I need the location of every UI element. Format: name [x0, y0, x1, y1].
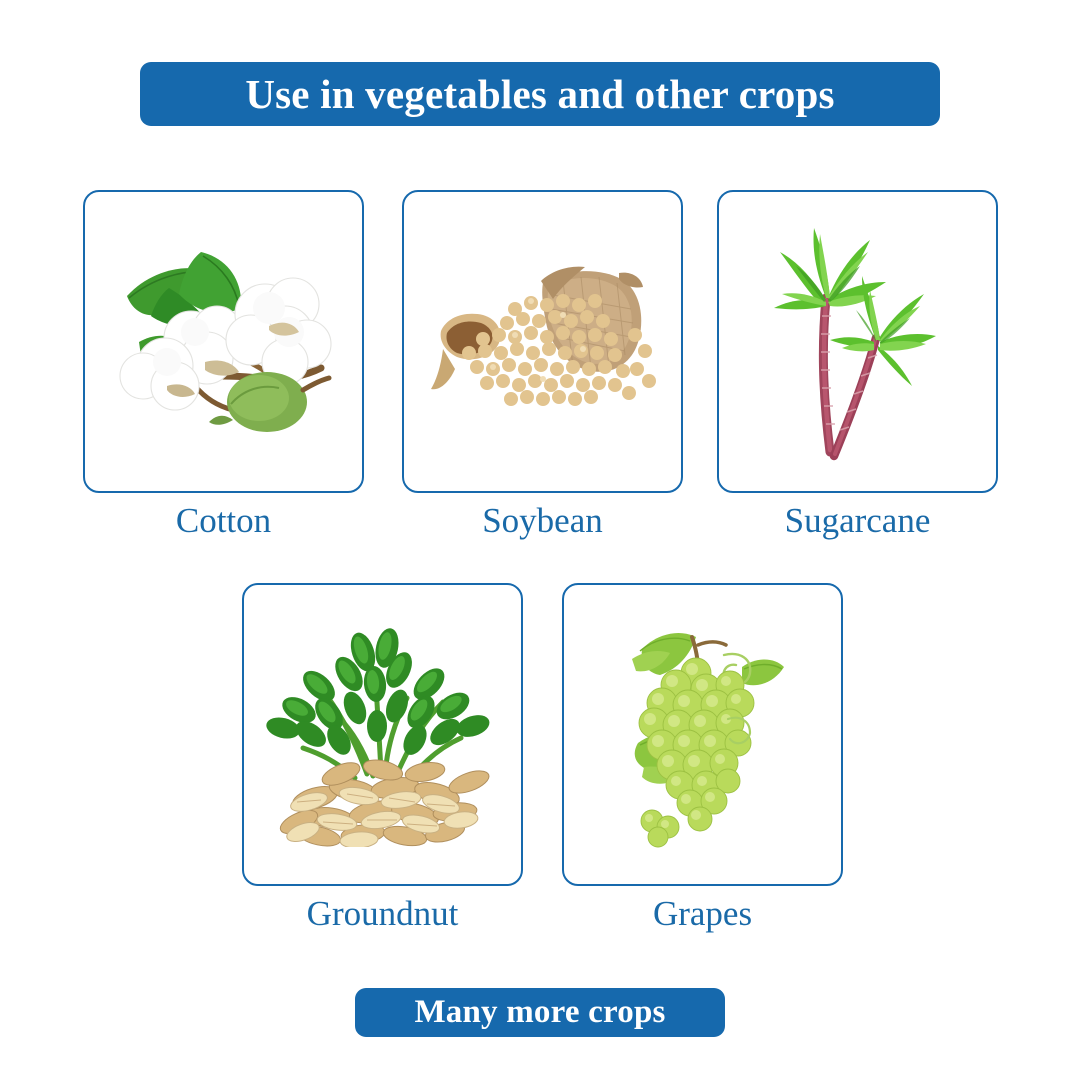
crop-card-groundnut[interactable] — [242, 583, 523, 886]
sugarcane-stalks-illustration — [768, 212, 948, 472]
crop-label-cotton: Cotton — [83, 503, 364, 538]
crop-label-soybean: Soybean — [402, 503, 683, 538]
soybean-sack-illustration — [423, 257, 663, 427]
crop-card-grapes[interactable] — [562, 583, 843, 886]
footer-banner: Many more crops — [355, 988, 725, 1037]
crop-usage-infographic: Use in vegetables and other crops — [0, 0, 1080, 1080]
crop-card-cotton[interactable] — [83, 190, 364, 493]
cotton-bolls-illustration — [109, 234, 339, 449]
header-banner: Use in vegetables and other crops — [140, 62, 940, 126]
crop-label-sugarcane: Sugarcane — [717, 503, 998, 538]
groundnut-plant-illustration — [263, 622, 503, 847]
header-banner-text: Use in vegetables and other crops — [245, 70, 834, 118]
green-grapes-bunch-illustration — [618, 615, 788, 855]
crop-card-soybean[interactable] — [402, 190, 683, 493]
crop-label-groundnut: Groundnut — [242, 896, 523, 931]
crop-label-grapes: Grapes — [562, 896, 843, 931]
footer-banner-text: Many more crops — [414, 994, 665, 1031]
crop-card-sugarcane[interactable] — [717, 190, 998, 493]
